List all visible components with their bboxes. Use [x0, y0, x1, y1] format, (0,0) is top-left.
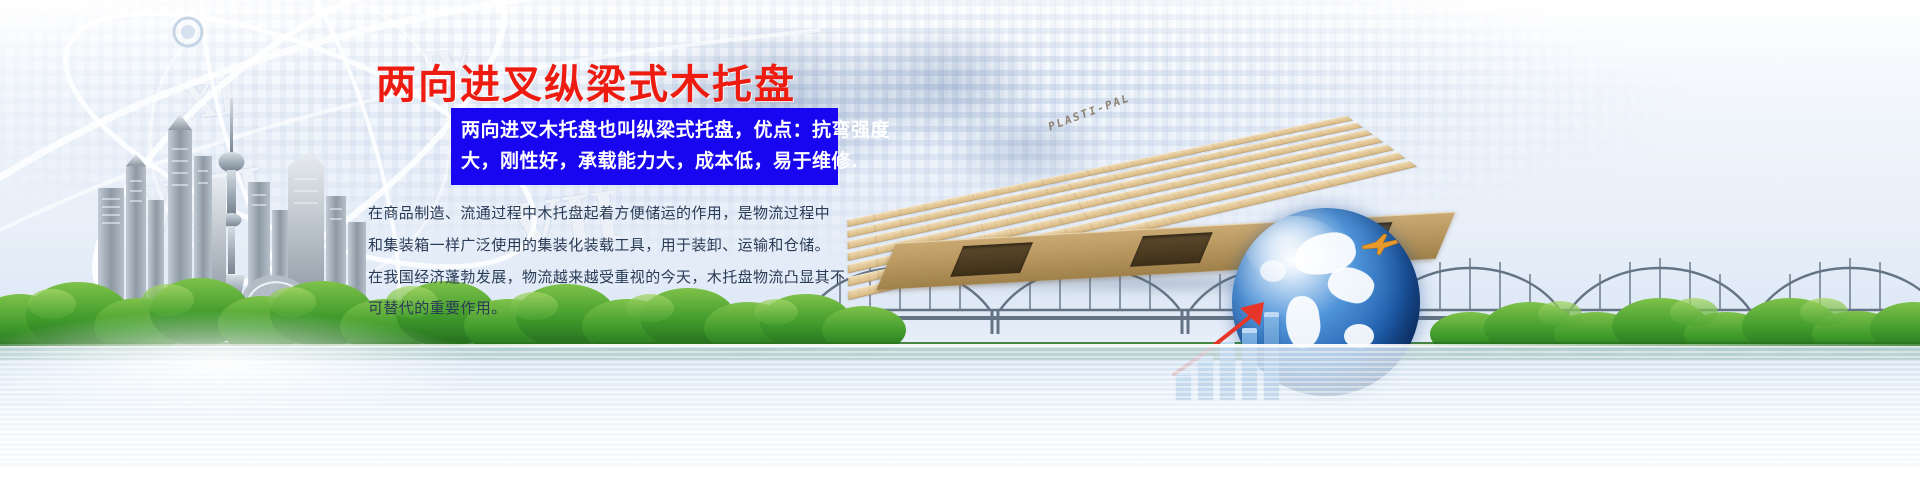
body-line: 在商品制造、流通过程中木托盘起着方便储运的作用，是物流过程中 [368, 198, 838, 230]
body-paragraph: 在商品制造、流通过程中木托盘起着方便储运的作用，是物流过程中 和集装箱一样广泛使… [368, 198, 838, 325]
airplane-icon [1360, 232, 1400, 256]
body-line: 可替代的重要作用。 [368, 293, 838, 325]
highlight-callout-box: 两向进叉木托盘也叫纵梁式托盘，优点：抗弯强度 大，刚性好，承载能力大，成本低，易… [451, 108, 838, 185]
page-title: 两向进叉纵梁式木托盘 [376, 52, 796, 110]
light-glow [0, 310, 480, 420]
highlight-line: 大，刚性好，承载能力大，成本低，易于维修. [461, 146, 829, 177]
pallet-stamp-text: PLASTI-PAL [1047, 91, 1130, 134]
promo-banner: VIII XI VII IV II [0, 0, 1920, 500]
body-line: 和集装箱一样广泛使用的集装化装载工具，用于装卸、运输和仓储。 [368, 230, 838, 262]
highlight-line: 两向进叉木托盘也叫纵梁式托盘，优点：抗弯强度 [461, 115, 829, 146]
body-line: 在我国经济蓬勃发展，物流越来越受重视的今天，木托盘物流凸显其不 [368, 262, 838, 294]
